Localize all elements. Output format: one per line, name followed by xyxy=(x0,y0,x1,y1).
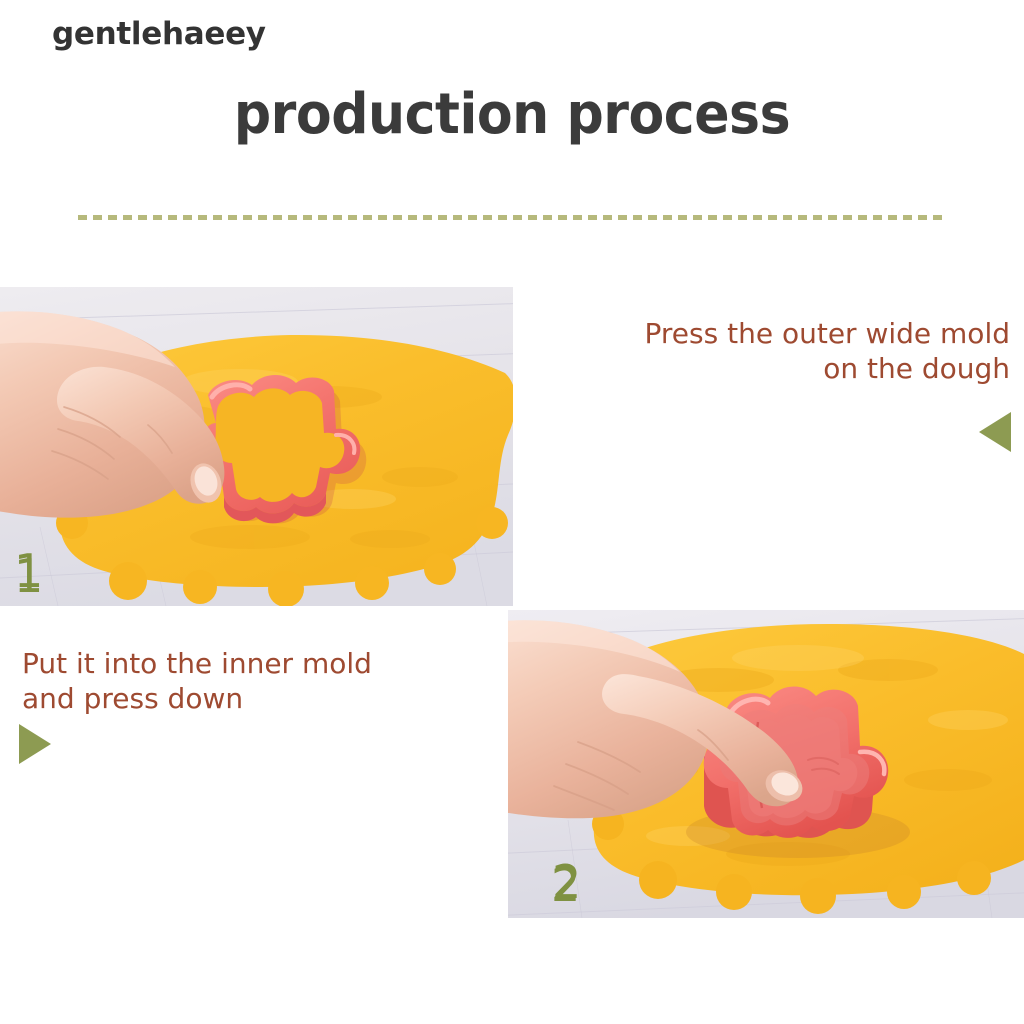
triangle-left-icon xyxy=(977,410,1013,454)
step-2-caption: Put it into the inner mold and press dow… xyxy=(22,646,492,717)
page-title: production process xyxy=(36,82,988,147)
step-1-photo: 1 xyxy=(0,287,513,606)
step-number-2: 2 xyxy=(551,862,580,908)
dashed-divider xyxy=(78,215,946,220)
brand-watermark: gentlehaeey xyxy=(52,16,266,52)
triangle-right-icon xyxy=(17,722,53,766)
step-2-photo: 2 xyxy=(508,610,1024,918)
step-1-caption: Press the outer wide mold on the dough xyxy=(540,316,1010,387)
step-number-1: 1 xyxy=(14,553,43,599)
